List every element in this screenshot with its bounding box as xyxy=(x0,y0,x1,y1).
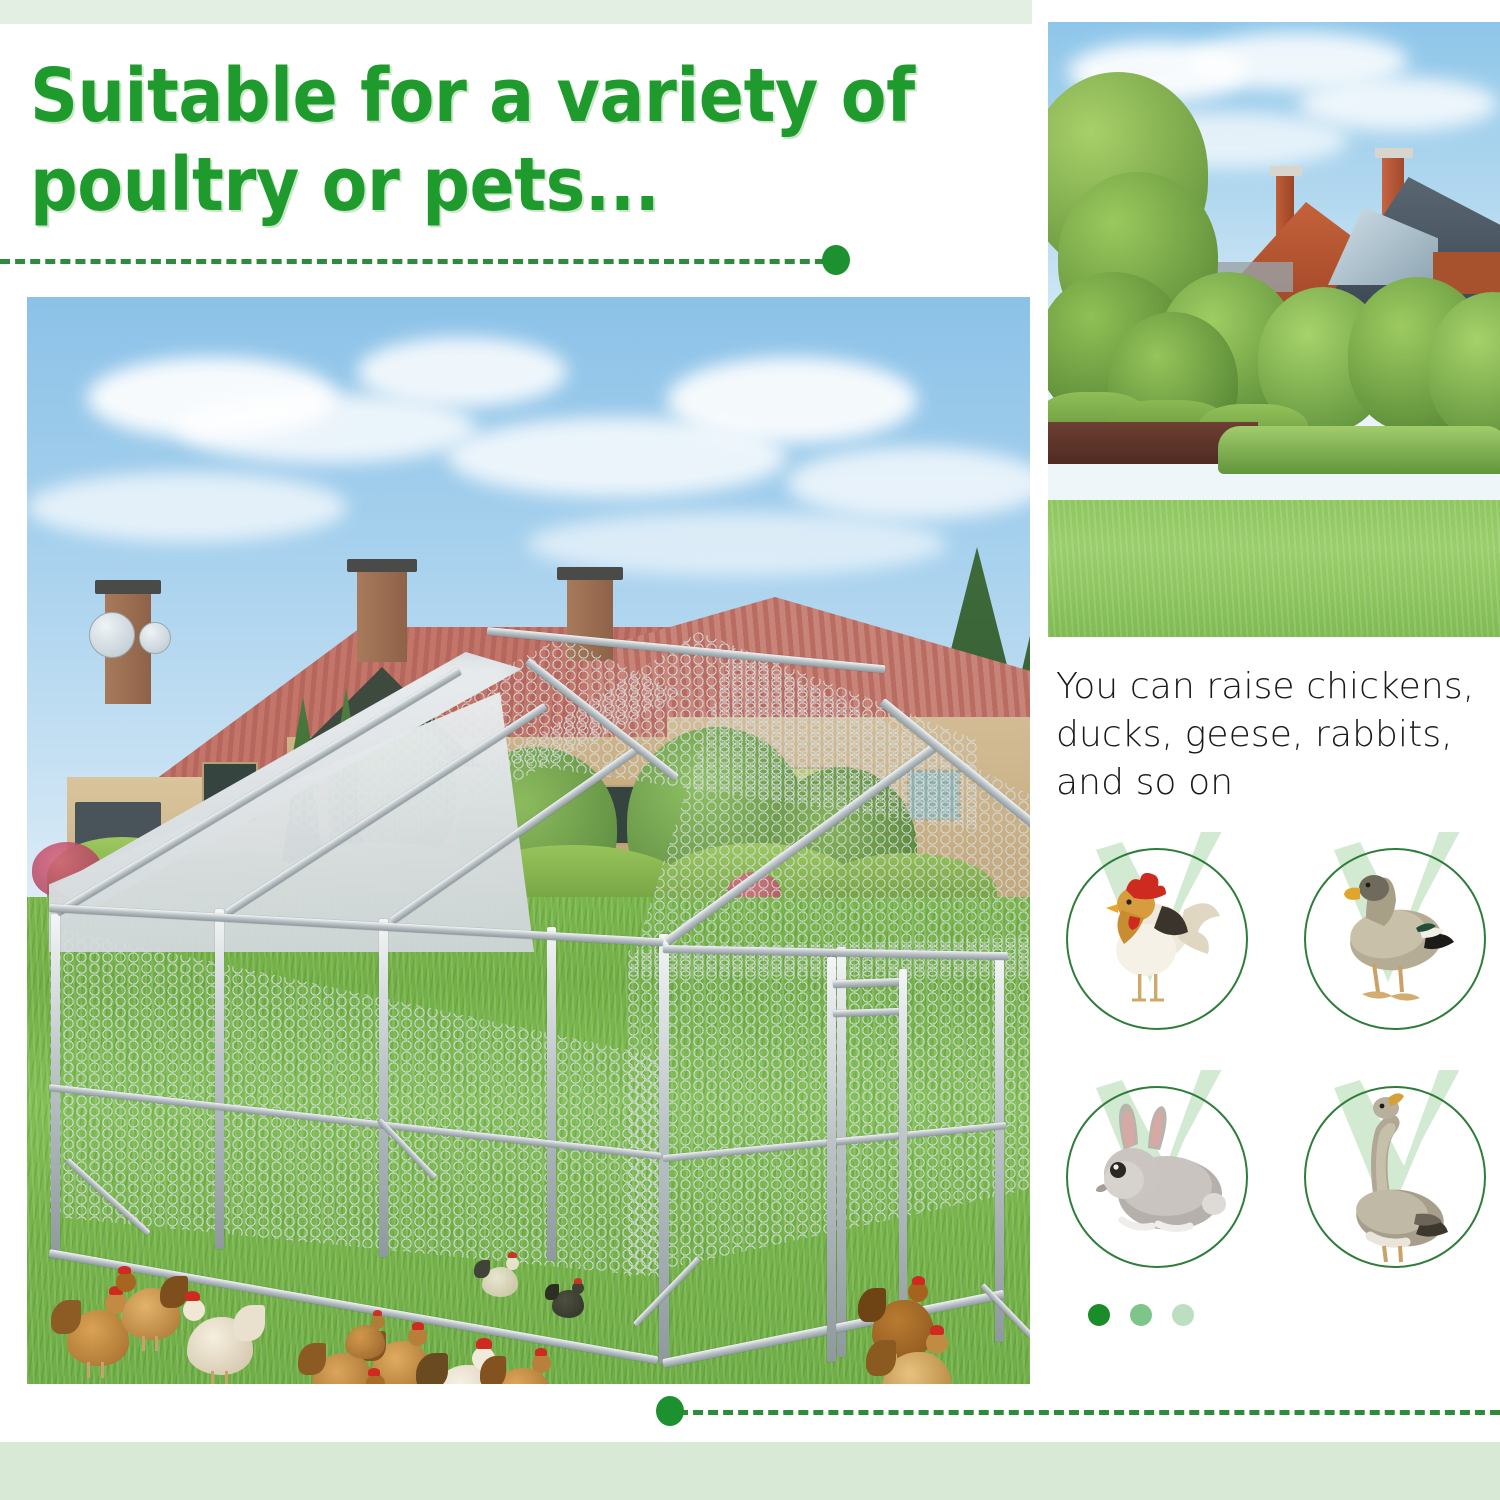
pagination-dot-3[interactable] xyxy=(1172,1304,1194,1326)
badge-goose[interactable] xyxy=(1304,1086,1486,1268)
bottom-accent-band xyxy=(0,1442,1500,1500)
badge-chicken[interactable] xyxy=(1066,848,1248,1030)
door-post xyxy=(827,957,836,1362)
yard-photo xyxy=(1048,22,1500,637)
lawn xyxy=(1048,500,1500,637)
top-dashed-rule xyxy=(0,259,840,264)
chimney-cap xyxy=(1270,166,1302,176)
cloud xyxy=(1298,77,1498,131)
hedge-row xyxy=(1218,426,1500,474)
headline: Suitable for a variety of poultry or pet… xyxy=(30,52,990,230)
main-product-photo xyxy=(27,297,1030,1384)
frame-post xyxy=(379,919,388,1257)
frame-post xyxy=(995,952,1004,1342)
duck-icon xyxy=(1304,848,1486,1030)
top-rule-dot xyxy=(822,245,850,275)
top-accent-band xyxy=(0,0,1032,24)
bottom-rule-dot xyxy=(656,1396,684,1426)
pagination-dot-1[interactable] xyxy=(1088,1304,1110,1326)
rabbit-icon xyxy=(1066,1086,1248,1268)
pagination-dot-2[interactable] xyxy=(1130,1304,1152,1326)
frame-post xyxy=(215,909,224,1249)
animal-badge-grid xyxy=(1066,848,1486,1268)
badge-duck[interactable] xyxy=(1304,848,1486,1030)
goose-icon xyxy=(1304,1086,1486,1268)
caption-text: You can raise chickens, ducks, geese, ra… xyxy=(1056,663,1486,807)
badge-rabbit[interactable] xyxy=(1066,1086,1248,1268)
chimney-cap xyxy=(1375,148,1413,158)
pagination-dots[interactable] xyxy=(1088,1304,1208,1328)
headline-line-1: Suitable for a variety of xyxy=(30,52,990,141)
rooster-icon xyxy=(1066,848,1248,1030)
headline-line-2: poultry or pets... xyxy=(30,141,990,230)
chicken-coop xyxy=(27,297,1030,1384)
side-wall-mesh xyxy=(49,897,659,1277)
frame-post xyxy=(547,927,556,1261)
corner-brace xyxy=(980,1283,1030,1349)
grass-texture xyxy=(1048,500,1500,637)
product-infographic: Suitable for a variety of poultry or pet… xyxy=(0,0,1500,1500)
frame-post xyxy=(837,947,846,1357)
bottom-dashed-rule xyxy=(678,1410,1500,1415)
